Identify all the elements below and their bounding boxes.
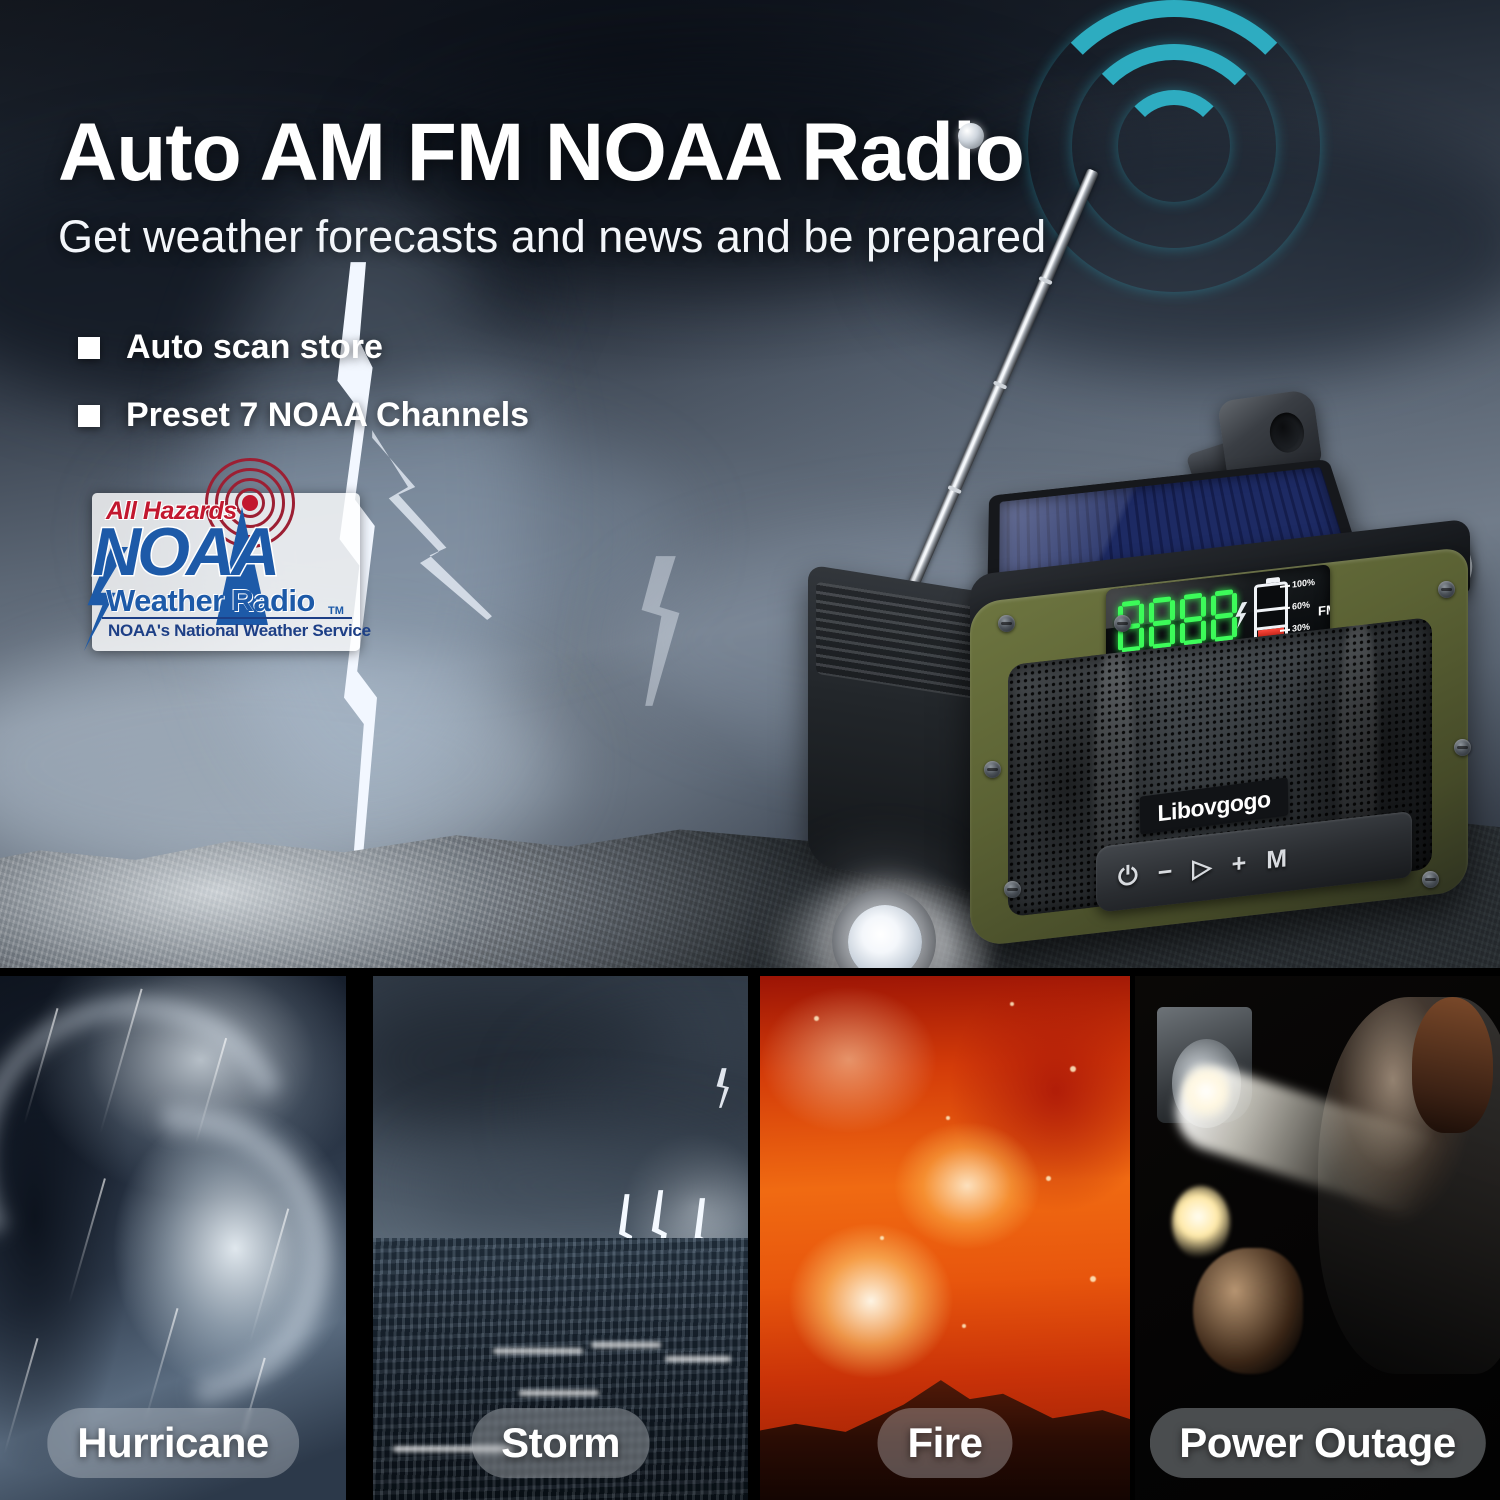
scenario-panel-fire: Fire (760, 976, 1130, 1500)
play-button[interactable]: ▷ (1192, 852, 1211, 884)
scenario-label: Power Outage (1179, 1419, 1455, 1466)
band-indicator-fm: FM (1318, 601, 1330, 618)
screw (1438, 581, 1455, 598)
logo-agency: NOAA's National Weather Service (108, 621, 371, 641)
page-subtitle: Get weather forecasts and news and be pr… (58, 214, 1358, 259)
battery-level-60: 60% (1292, 600, 1310, 612)
lightning-bolt-branch (372, 430, 492, 620)
scenario-label: Hurricane (77, 1419, 269, 1466)
scenario-panels: Hurricane Storm (0, 968, 1500, 1500)
scenario-label-pill: Fire (877, 1408, 1012, 1478)
screw (1422, 871, 1439, 888)
feature-bullet-2: Preset 7 NOAA Channels (78, 396, 529, 435)
screw (984, 761, 1001, 778)
feature-bullet-1: Auto scan store (78, 328, 383, 367)
radio-body: 100% 60% 30% WB FM AM Libovgogo (818, 571, 1468, 927)
feature-bullet-label: Preset 7 NOAA Channels (126, 396, 529, 435)
scenario-label-pill: Power Outage (1149, 1408, 1485, 1478)
noaa-weather-radio-logo: All Hazards NOAA Weather Radio TM NOAA's… (84, 455, 374, 655)
screw (1004, 881, 1021, 898)
radio-product: 100% 60% 30% WB FM AM Libovgogo (790, 395, 1490, 955)
flashlight-hotspot (1182, 1060, 1229, 1123)
scenario-panel-hurricane: Hurricane (0, 976, 346, 1500)
screw (998, 615, 1015, 632)
scenario-label: Fire (907, 1419, 982, 1466)
feature-bullet-label: Auto scan store (126, 328, 383, 367)
square-bullet-icon (78, 337, 100, 359)
antenna-tip (958, 123, 984, 149)
lightning-bolt-small (620, 556, 710, 706)
scenario-panel-storm: Storm (373, 976, 748, 1500)
screw (1114, 615, 1131, 632)
logo-trademark: TM (328, 605, 344, 617)
logo-acronym: NOAA (92, 513, 276, 591)
hero-section: Auto AM FM NOAA Radio Get weather foreca… (0, 0, 1500, 968)
power-button[interactable]: ⏻ (1118, 861, 1138, 892)
page-title: Auto AM FM NOAA Radio (58, 112, 1428, 194)
logo-divider (102, 617, 352, 619)
logo-service-line: Weather Radio (106, 583, 315, 619)
scenario-label: Storm (501, 1419, 620, 1466)
scenario-label-pill: Storm (471, 1408, 650, 1478)
product-marketing-image: Auto AM FM NOAA Radio Get weather foreca… (0, 0, 1500, 1500)
volume-up-button[interactable]: + (1232, 848, 1247, 879)
square-bullet-icon (78, 405, 100, 427)
person-hair (1412, 997, 1492, 1133)
light-glow (1172, 1186, 1230, 1259)
scenario-panel-power-outage: Power Outage (1135, 976, 1500, 1500)
screw (1454, 739, 1471, 756)
volume-down-button[interactable]: − (1158, 857, 1173, 888)
person-hand (1193, 1248, 1303, 1374)
scenario-label-pill: Hurricane (47, 1408, 299, 1478)
mode-button[interactable]: M (1266, 844, 1287, 875)
